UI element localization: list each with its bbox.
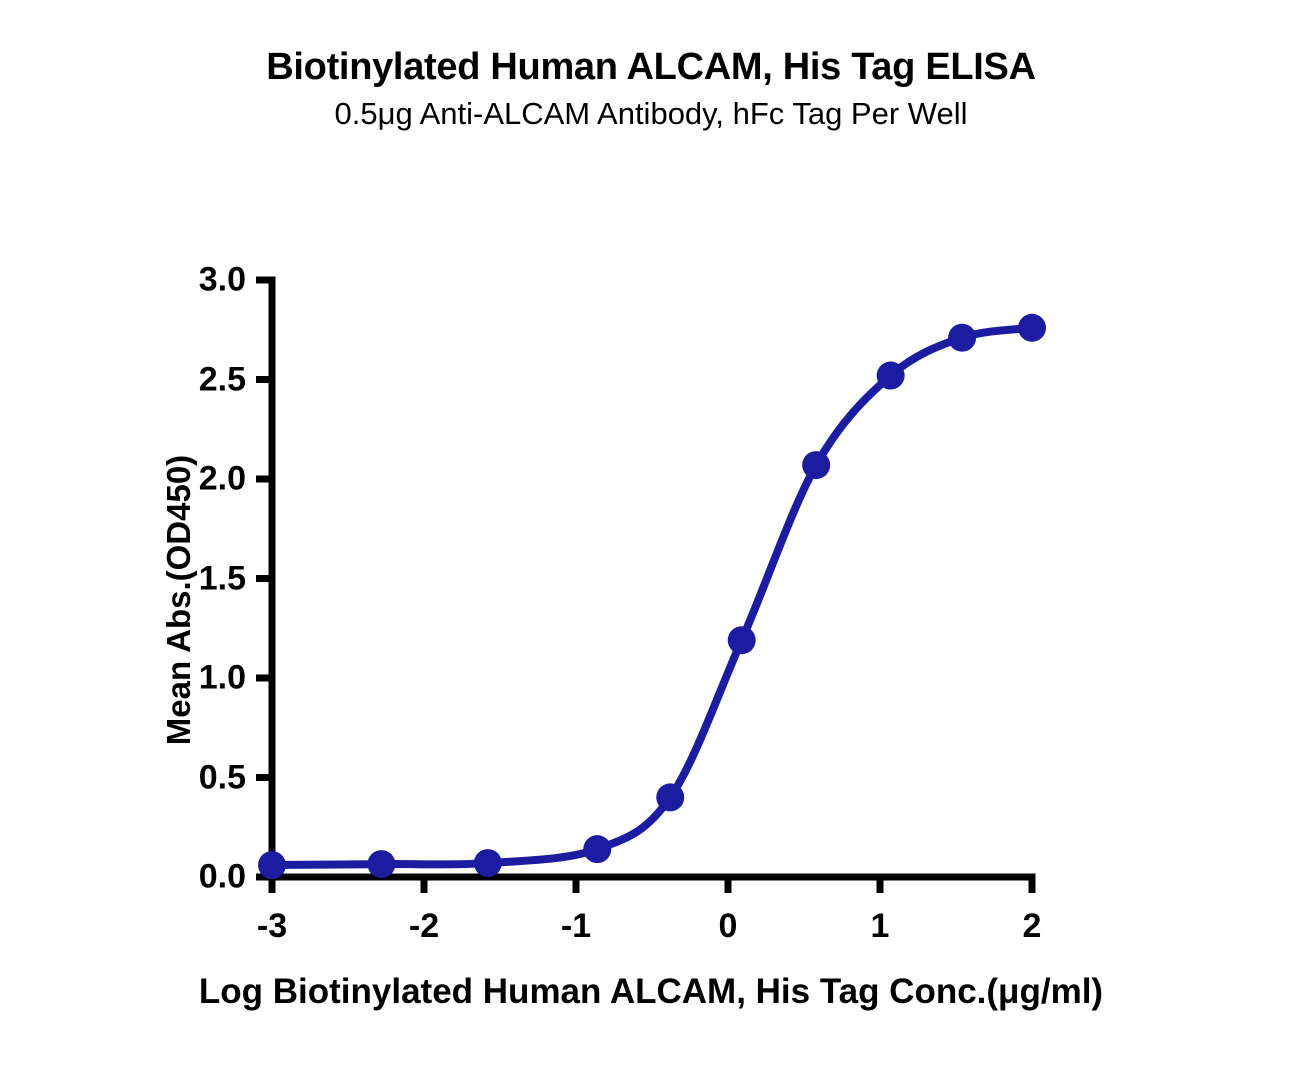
data-point-marker	[1018, 314, 1046, 342]
y-tick-label: 0.0	[199, 858, 246, 897]
data-point-marker	[367, 850, 395, 878]
y-tick-label: 2.0	[199, 460, 246, 499]
y-tick-label: 1.0	[199, 659, 246, 698]
y-tick-label: 2.5	[199, 360, 246, 399]
data-point-marker	[802, 451, 830, 479]
x-tick-label: -2	[409, 907, 439, 946]
y-tick-label: 1.5	[199, 559, 246, 598]
x-tick-label: -1	[561, 907, 591, 946]
x-tick-label: -3	[257, 907, 287, 946]
x-tick-label: 0	[719, 907, 738, 946]
x-tick-label: 2	[1023, 907, 1042, 946]
data-point-marker	[258, 851, 286, 879]
y-tick-label: 0.5	[199, 758, 246, 797]
data-point-marker	[474, 849, 502, 877]
data-curve	[272, 328, 1032, 865]
series-group	[258, 314, 1046, 879]
plot-area: 0.00.51.01.52.02.53.0 -3-2-1012 Mean Abs…	[0, 0, 1302, 1077]
data-point-marker	[656, 783, 684, 811]
data-point-marker	[948, 324, 976, 352]
data-point-marker	[877, 362, 905, 390]
y-axis-title: Mean Abs.(OD450)	[160, 340, 198, 860]
elisa-chart-figure: Biotinylated Human ALCAM, His Tag ELISA …	[0, 0, 1302, 1077]
x-axis-title: Log Biotinylated Human ALCAM, His Tag Co…	[0, 972, 1302, 1012]
x-tick-label: 1	[871, 907, 890, 946]
axes-group	[256, 277, 1036, 894]
data-point-marker	[728, 626, 756, 654]
y-tick-label: 3.0	[199, 261, 246, 300]
data-point-marker	[583, 835, 611, 863]
